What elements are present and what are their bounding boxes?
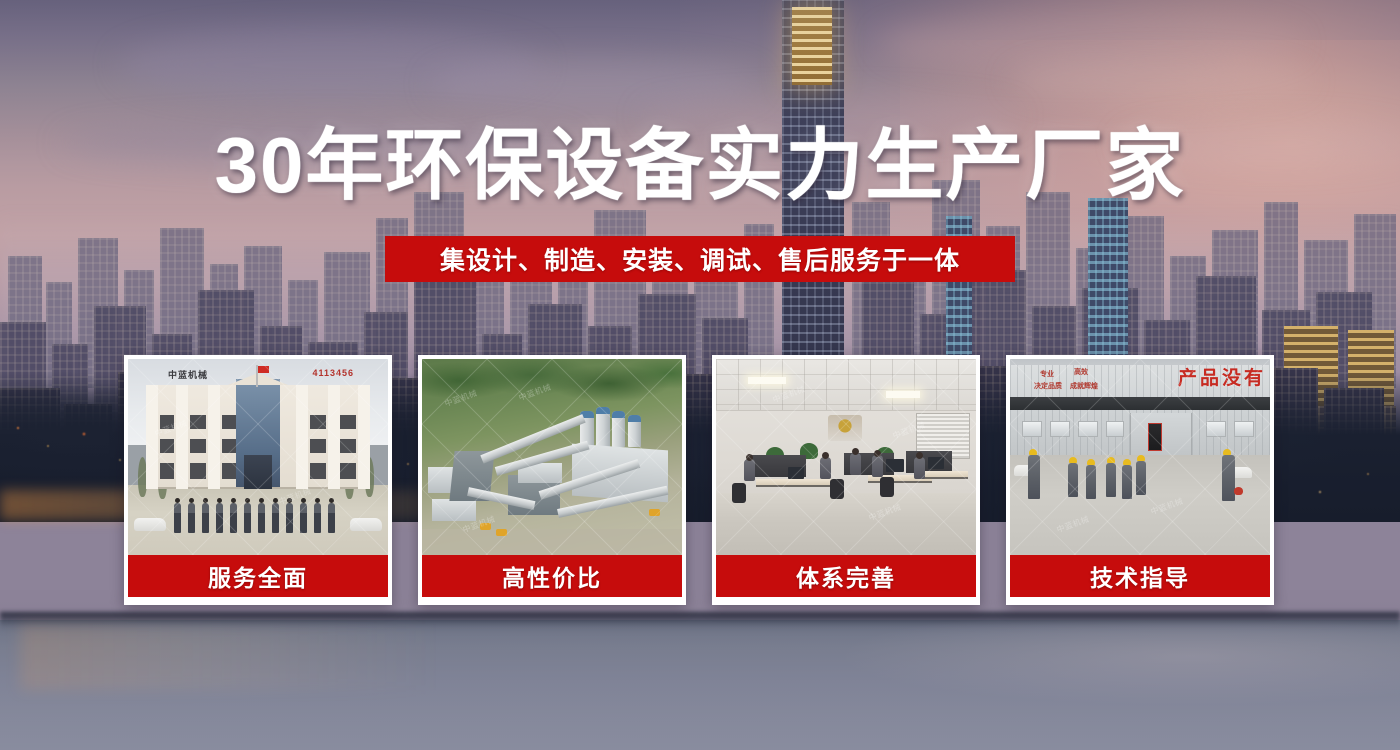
- office-interior-photo: 中蓝机械 中蓝机械 中蓝机械: [716, 359, 976, 555]
- technical-training-photo: 产品没有 专业 高效 决定品质 成就辉煌: [1010, 359, 1270, 555]
- feature-card-list: 中蓝机械 4113456 中蓝机械 中蓝机械 服务全面: [124, 355, 1276, 605]
- production-plant-aerial-photo: 中蓝机械 中蓝机械 中蓝机械: [422, 359, 682, 555]
- tower-crown-lights: [792, 7, 832, 85]
- factory-slogan: 高效: [1074, 367, 1088, 377]
- card-caption: 技术指导: [1010, 555, 1270, 597]
- factory-slogan: 决定品质: [1034, 381, 1062, 391]
- card-caption: 高性价比: [422, 555, 682, 597]
- card-caption: 服务全面: [128, 555, 388, 597]
- feature-card-value[interactable]: 中蓝机械 中蓝机械 中蓝机械 高性价比: [418, 355, 686, 605]
- factory-banner-text: 产品没有: [1178, 363, 1266, 390]
- company-headquarters-photo: 中蓝机械 4113456 中蓝机械 中蓝机械: [128, 359, 388, 555]
- river-light-reflection: [20, 624, 440, 690]
- subtitle-banner: 集设计、制造、安装、调试、售后服务于一体: [385, 236, 1015, 282]
- factory-slogan: 专业: [1040, 369, 1054, 379]
- feature-card-system[interactable]: 中蓝机械 中蓝机械 中蓝机械 体系完善: [712, 355, 980, 605]
- building-phone-text: 4113456: [312, 368, 354, 378]
- feature-card-service[interactable]: 中蓝机械 4113456 中蓝机械 中蓝机械 服务全面: [124, 355, 392, 605]
- feature-card-guidance[interactable]: 产品没有 专业 高效 决定品质 成就辉煌: [1006, 355, 1274, 605]
- river-sky-reflection: [700, 620, 1400, 710]
- promo-banner: 30年环保设备实力生产厂家 集设计、制造、安装、调试、售后服务于一体: [0, 0, 1400, 750]
- wall-logo: [828, 415, 862, 441]
- page-title: 30年环保设备实力生产厂家: [0, 126, 1400, 204]
- subtitle-text: 集设计、制造、安装、调试、售后服务于一体: [440, 241, 960, 277]
- factory-slogan: 成就辉煌: [1070, 381, 1098, 391]
- building-sign-text: 中蓝机械: [168, 368, 208, 381]
- card-caption: 体系完善: [716, 555, 976, 597]
